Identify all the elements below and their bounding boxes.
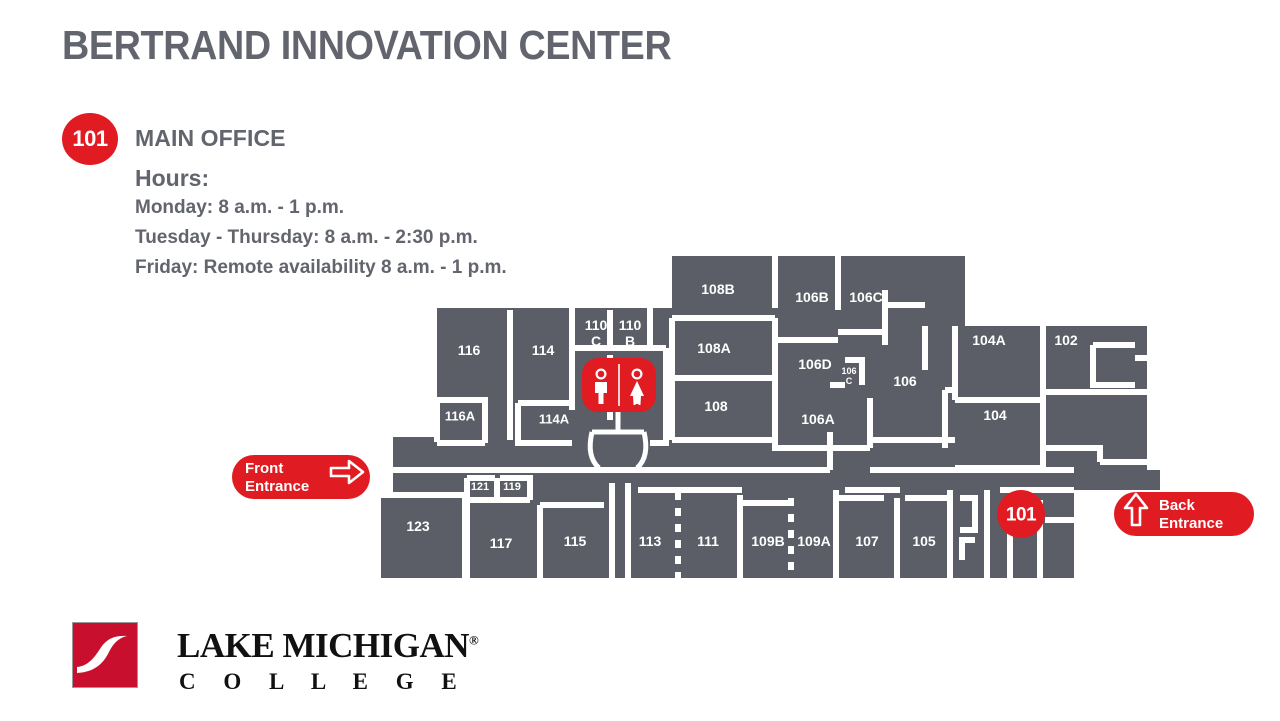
room-label-108: 108 xyxy=(704,398,728,414)
room-label-102: 102 xyxy=(1054,332,1078,348)
restrooms-icon xyxy=(582,358,656,412)
room-label-108B: 108B xyxy=(701,281,734,297)
room-label-106Csm-suffix: C xyxy=(846,376,853,386)
room-label-123: 123 xyxy=(406,518,430,534)
room-label-110C-suffix: C xyxy=(591,333,601,349)
map-room-badge-101[interactable]: 101 xyxy=(997,490,1045,538)
room-label-110B: 110 xyxy=(619,317,642,333)
room-label-110B-suffix: B xyxy=(625,333,635,349)
logo-wordmark-text: LAKE MICHIGAN xyxy=(177,626,469,665)
logo-wordmark: LAKE MICHIGAN® xyxy=(177,626,478,666)
page-root: BERTRAND INNOVATION CENTER 101 MAIN OFFI… xyxy=(0,0,1280,721)
room-label-115: 115 xyxy=(564,533,587,549)
front-entrance-marker[interactable]: Front Entrance xyxy=(232,455,370,499)
room-label-116: 116 xyxy=(458,342,481,358)
logo-registered-mark: ® xyxy=(469,632,478,647)
room-label-109B: 109B xyxy=(751,533,784,549)
room-label-111: 111 xyxy=(697,533,719,549)
floorplan-map: 108B106B106C116114110C110B108A106D106C10… xyxy=(0,0,1280,721)
room-label-107: 107 xyxy=(855,533,879,549)
room-label-104A: 104A xyxy=(972,332,1005,348)
room-label-106B: 106B xyxy=(795,289,828,305)
room-label-104: 104 xyxy=(983,407,1007,423)
room-label-114A: 114A xyxy=(539,412,570,427)
room-label-116A: 116A xyxy=(445,409,476,424)
front-entrance-label-line1: Front xyxy=(245,460,283,477)
room-label-106D: 106D xyxy=(798,356,831,372)
room-label-108A: 108A xyxy=(697,340,730,356)
room-label-105: 105 xyxy=(912,533,936,549)
room-label-119: 119 xyxy=(503,481,521,493)
room-label-114: 114 xyxy=(532,342,555,358)
room-label-106A: 106A xyxy=(801,411,834,427)
room-label-106C: 106C xyxy=(849,289,882,305)
back-entrance-label-line1: Back xyxy=(1159,497,1196,514)
logo-subtext: C O L L E G E xyxy=(179,669,468,695)
map-room-badge-101-label: 101 xyxy=(1006,505,1037,526)
room-label-121: 121 xyxy=(471,481,489,493)
front-entrance-label-line2: Entrance xyxy=(245,478,309,495)
room-label-109A: 109A xyxy=(797,533,830,549)
room-label-117: 117 xyxy=(490,535,513,551)
back-entrance-marker[interactable]: Back Entrance xyxy=(1114,492,1254,536)
room-label-113: 113 xyxy=(639,533,662,549)
wave-logo-icon xyxy=(72,622,138,688)
room-label-106Csm: 106 xyxy=(841,366,856,376)
room-label-110C: 110 xyxy=(585,317,608,333)
back-entrance-label-line2: Entrance xyxy=(1159,515,1223,532)
room-label-106: 106 xyxy=(893,373,917,389)
